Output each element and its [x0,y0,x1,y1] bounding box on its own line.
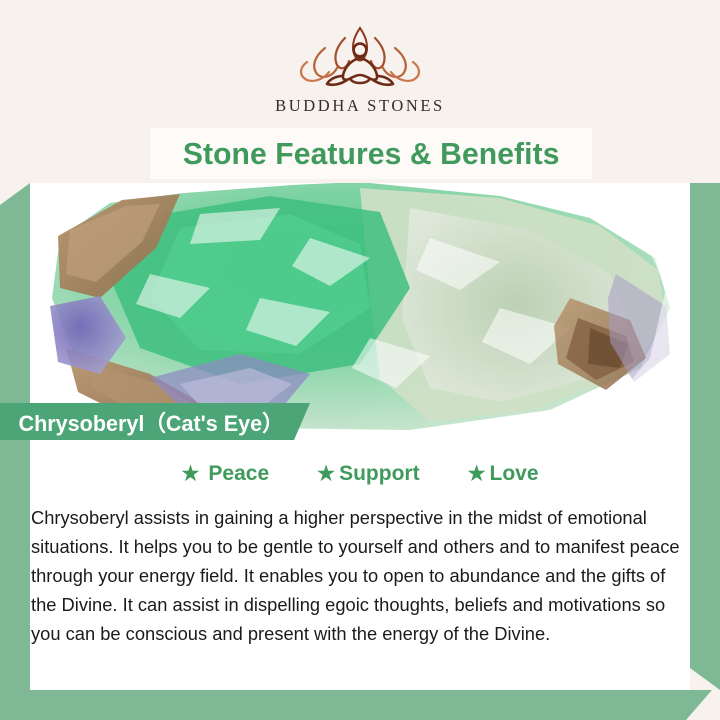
stone-description: Chrysoberyl assists in gaining a higher … [30,503,684,648]
title-band: Stone Features & Benefits [150,128,592,179]
lotus-meditation-icon [285,18,435,92]
keyword-peace: ★ Peace [181,462,269,486]
keyword-support: ★ Support [317,462,419,486]
star-icon: ★ [468,464,486,484]
frame-bottom-bar [0,690,712,720]
keyword-label: Peace [208,462,269,486]
star-icon: ★ [181,464,199,484]
keyword-row: ★ Peace ★ Support ★ Love [30,462,690,486]
star-icon: ★ [317,464,335,484]
keyword-label: Love [490,462,539,486]
page-title: Stone Features & Benefits [183,136,560,172]
keyword-love: ★ Love [468,462,539,486]
brand-logo: BUDDHA STONES [0,18,720,116]
stone-name-banner: Chrysoberyl（Cat's Eye） [0,403,310,440]
stone-name: Chrysoberyl（Cat's Eye） [3,406,284,438]
poster: BUDDHA STONES [0,0,720,720]
keyword-label: Support [339,462,419,486]
frame-left-bar [0,183,30,700]
brand-name: BUDDHA STONES [275,96,445,116]
